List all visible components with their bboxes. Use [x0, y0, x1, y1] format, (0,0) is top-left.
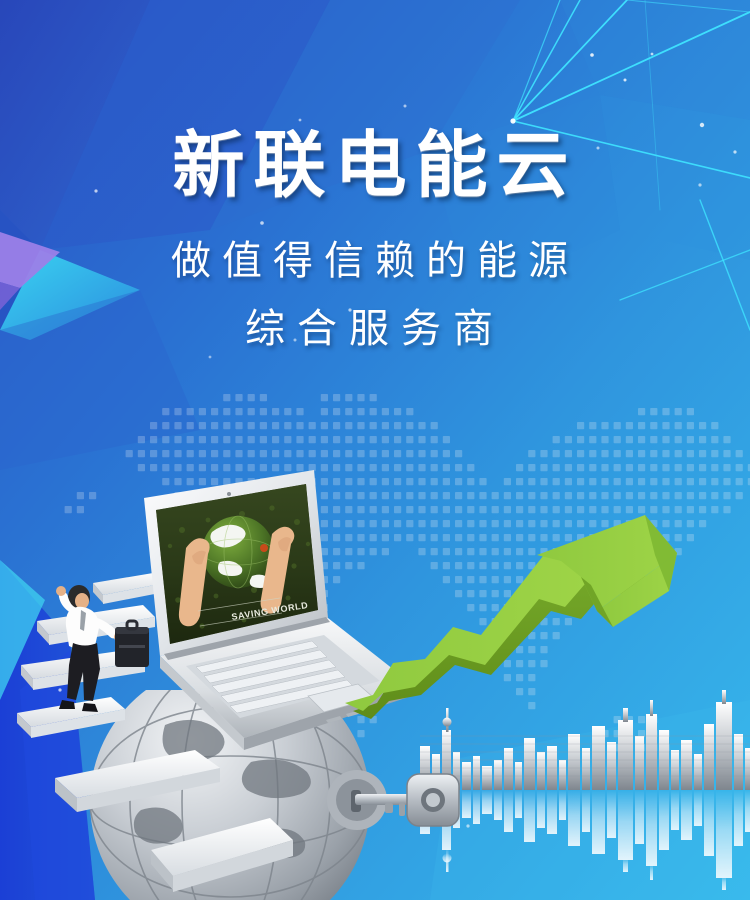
growth-arrow: [345, 515, 685, 730]
tagline: 做值得信赖的能源 综合服务商: [0, 232, 750, 358]
page-title: 新联电能云: [0, 128, 750, 206]
tagline-line-1: 做值得信赖的能源: [171, 239, 579, 283]
tagline-line-2: 综合服务商: [0, 300, 750, 358]
promo-poster: 新联电能云 做值得信赖的能源 综合服务商: [0, 0, 750, 900]
headline-block: 新联电能云 做值得信赖的能源 综合服务商: [0, 128, 750, 358]
